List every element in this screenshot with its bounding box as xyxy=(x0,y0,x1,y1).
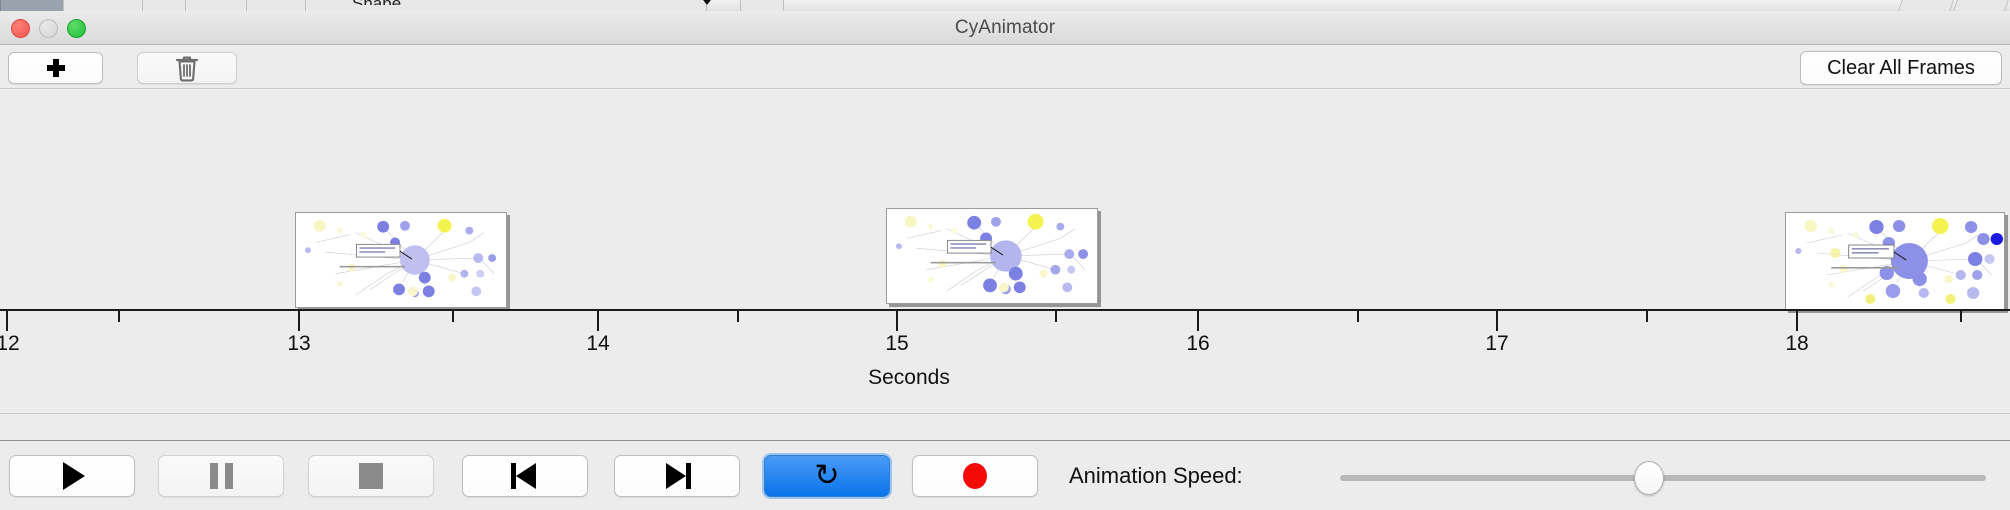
cyanimator-screen: Shape CyAnimator Clear All Frames xyxy=(0,0,2010,510)
plus-icon xyxy=(47,59,65,77)
timeline-frame-thumbnail[interactable] xyxy=(1785,212,2005,310)
axis-tick-label: 13 xyxy=(287,332,310,356)
timeline-frame-thumbnail[interactable] xyxy=(295,212,507,308)
playback-control-bar: ↻ Animation Speed: xyxy=(0,440,2010,510)
axis-tick-label: 16 xyxy=(1186,332,1209,356)
axis-tick xyxy=(1960,311,1962,322)
bg-tab-selected xyxy=(0,0,64,11)
window-titlebar[interactable]: CyAnimator xyxy=(0,11,2010,45)
axis-tick xyxy=(298,311,300,331)
pause-icon xyxy=(210,463,233,489)
axis-tick-label: 17 xyxy=(1485,332,1508,356)
frame-toolbar: Clear All Frames xyxy=(0,45,2010,89)
axis-tick xyxy=(737,311,739,322)
play-icon xyxy=(63,462,85,490)
trash-icon xyxy=(175,55,199,82)
network-thumbnail-icon xyxy=(296,213,506,307)
axis-title-seconds: Seconds xyxy=(0,366,1818,390)
animation-speed-label: Animation Speed: xyxy=(1069,463,1243,489)
window-title: CyAnimator xyxy=(0,11,2010,45)
bg-tab xyxy=(185,0,247,11)
animation-speed-slider-thumb[interactable] xyxy=(1634,461,1664,495)
bg-caret-icon xyxy=(700,0,714,5)
timeline-panel[interactable]: 12 13 14 15 16 17 18 Seconds xyxy=(0,89,2010,414)
timeline-axis-line xyxy=(0,309,2010,311)
axis-tick-label: 14 xyxy=(586,332,609,356)
clear-all-frames-button[interactable]: Clear All Frames xyxy=(1800,51,2002,85)
record-button[interactable] xyxy=(912,455,1038,497)
network-thumbnail-icon xyxy=(1786,213,2004,309)
axis-tick xyxy=(452,311,454,322)
bg-tab xyxy=(63,0,143,11)
next-frame-button[interactable] xyxy=(614,455,740,497)
bg-tab xyxy=(1898,0,1954,11)
bg-tab xyxy=(740,0,784,11)
axis-tick-label: 12 xyxy=(0,332,20,356)
axis-tick-label: 15 xyxy=(885,332,908,356)
axis-tick xyxy=(1357,311,1359,322)
skip-forward-icon xyxy=(663,463,691,489)
skip-back-icon xyxy=(511,463,539,489)
stop-icon xyxy=(359,463,383,489)
pause-button[interactable] xyxy=(158,455,284,497)
axis-tick xyxy=(118,311,120,322)
add-frame-button[interactable] xyxy=(8,52,103,84)
loop-button[interactable]: ↻ xyxy=(764,455,890,497)
axis-tick-label: 18 xyxy=(1785,332,1808,356)
delete-frame-button[interactable] xyxy=(137,52,237,84)
axis-tick xyxy=(896,311,898,331)
bg-tab xyxy=(246,0,306,11)
play-button[interactable] xyxy=(9,455,135,497)
axis-tick xyxy=(1055,311,1057,322)
network-thumbnail-icon xyxy=(887,209,1097,303)
loop-icon: ↻ xyxy=(814,461,839,491)
timeline-frame-thumbnail[interactable] xyxy=(886,208,1098,304)
axis-tick xyxy=(1646,311,1648,322)
axis-tick xyxy=(1496,311,1498,331)
axis-tick xyxy=(1197,311,1199,331)
bg-window-text: Shape xyxy=(352,0,401,5)
record-icon xyxy=(963,463,987,489)
bg-tab xyxy=(1953,0,2009,11)
axis-tick xyxy=(1796,311,1798,331)
bg-tab xyxy=(142,0,186,11)
axis-tick xyxy=(6,311,8,331)
previous-frame-button[interactable] xyxy=(462,455,588,497)
axis-tick xyxy=(597,311,599,331)
stop-button[interactable] xyxy=(308,455,434,497)
